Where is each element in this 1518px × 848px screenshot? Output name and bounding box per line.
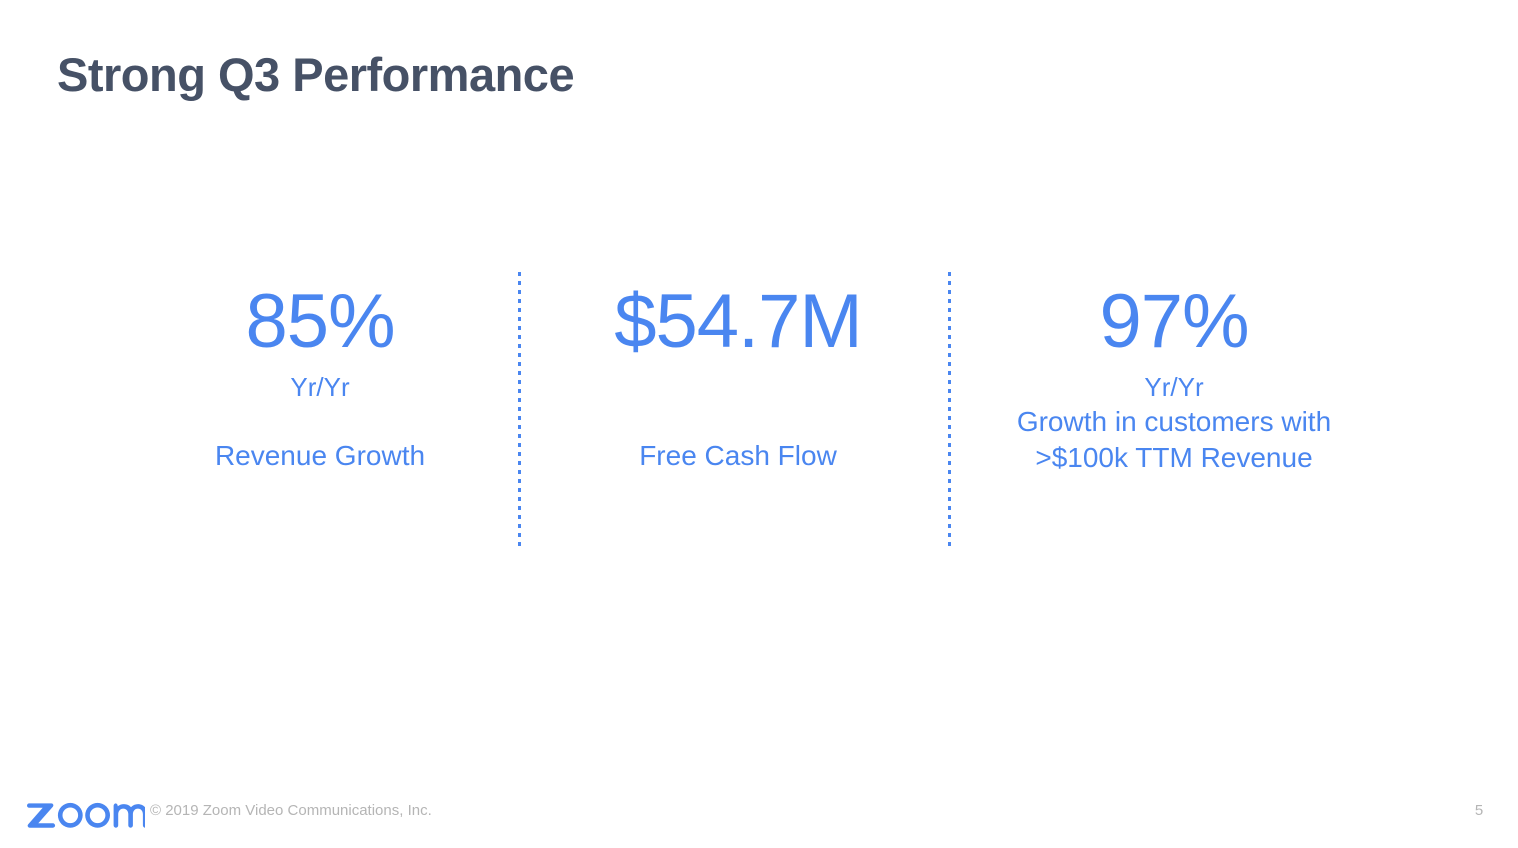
- divider-2: [948, 272, 951, 548]
- page-number: 5: [1440, 800, 1518, 822]
- metric-card-customer-growth: 97% Yr/Yr Growth in customers with >$100…: [984, 272, 1364, 476]
- metric-label: Revenue Growth: [170, 438, 470, 474]
- copyright-text: © 2019 Zoom Video Communications, Inc.: [150, 800, 432, 822]
- divider-1: [518, 272, 521, 548]
- metrics-row: 85% Yr/Yr Revenue Growth $54.7M Free Cas…: [0, 272, 1518, 548]
- page-title: Strong Q3 Performance: [57, 47, 574, 103]
- metric-period: Yr/Yr: [170, 370, 470, 404]
- metric-label: Free Cash Flow: [568, 438, 908, 474]
- metric-value: 97%: [984, 272, 1364, 360]
- metric-card-free-cash-flow: $54.7M Free Cash Flow: [568, 272, 908, 474]
- metric-period: Yr/Yr: [984, 370, 1364, 404]
- metric-card-revenue-growth: 85% Yr/Yr Revenue Growth: [170, 272, 470, 474]
- slide-footer: © 2019 Zoom Video Communications, Inc. 5: [0, 788, 1518, 848]
- slide-canvas: Strong Q3 Performance 85% Yr/Yr Revenue …: [0, 0, 1518, 848]
- metric-value: $54.7M: [568, 272, 908, 360]
- zoom-logo-icon: [27, 794, 145, 828]
- metric-label: Growth in customers with >$100k TTM Reve…: [984, 404, 1364, 476]
- metric-value: 85%: [170, 272, 470, 360]
